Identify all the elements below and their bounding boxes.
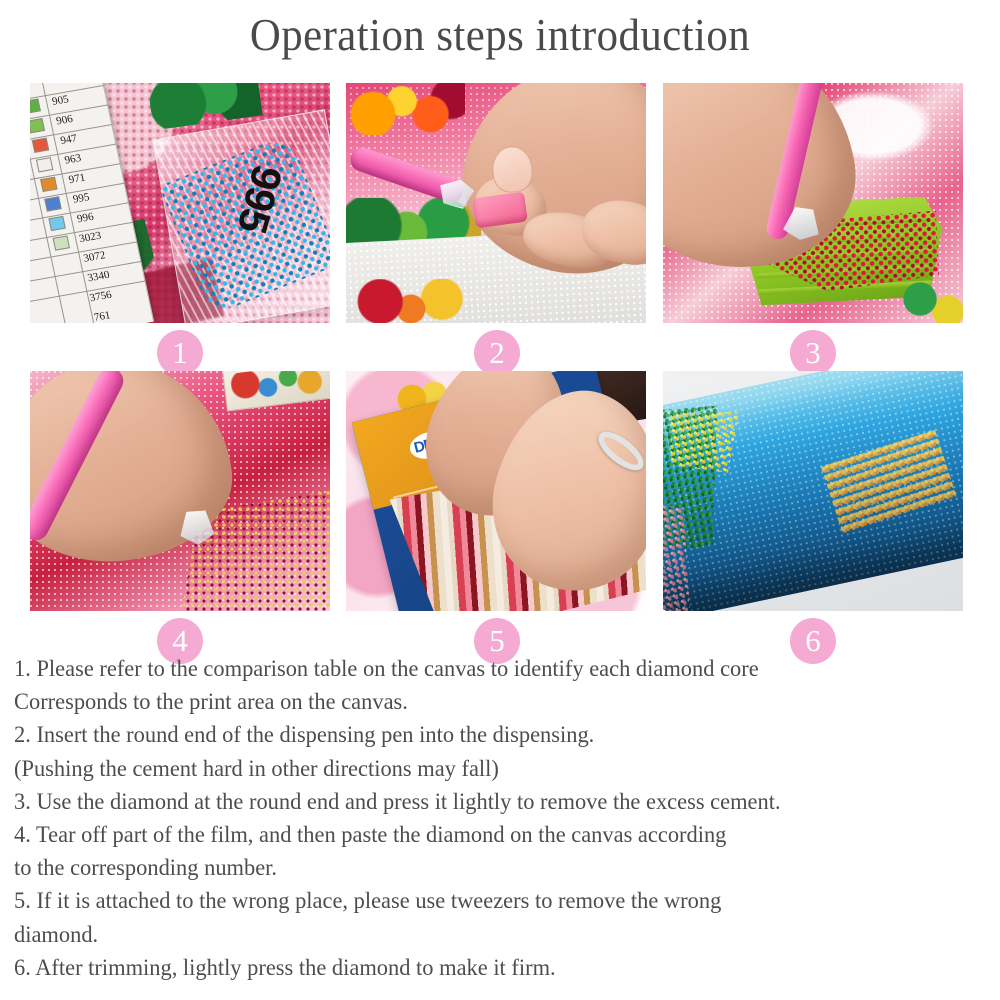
step-photo-6	[663, 371, 963, 611]
corner-beads	[899, 279, 963, 323]
step-badge-2: 2	[474, 330, 520, 376]
instruction-line: diamond.	[14, 919, 956, 952]
bottom-flower-beads	[356, 279, 466, 323]
instruction-line: Corresponds to the print area on the can…	[14, 686, 956, 719]
step-panel-2	[346, 83, 646, 323]
instruction-line: 6. After trimming, lightly press the dia…	[14, 952, 956, 985]
instruction-line: 3. Use the diamond at the round end and …	[14, 786, 956, 819]
steps-grid: [34] [35] [36] [37] [38] [39] # ◆	[30, 83, 963, 611]
orange-flower-beads	[350, 83, 465, 135]
step-panel-6	[663, 371, 963, 611]
instruction-line: 2. Insert the round end of the dispensin…	[14, 719, 956, 752]
steps-row-1: [34] [35] [36] [37] [38] [39] # ◆	[30, 83, 963, 323]
instruction-line: 4. Tear off part of the film, and then p…	[14, 819, 956, 852]
instruction-line: 5. If it is attached to the wrong place,…	[14, 885, 956, 918]
instruction-line: to the corresponding number.	[14, 852, 956, 885]
step-panel-3	[663, 83, 963, 323]
step-panel-5: DMC	[346, 371, 646, 611]
step-panel-1: [34] [35] [36] [37] [38] [39] # ◆	[30, 83, 330, 323]
instructions-list: 1. Please refer to the comparison table …	[14, 653, 956, 985]
step-photo-3	[663, 83, 963, 323]
steps-row-2: DMC	[30, 371, 963, 611]
step-badge-3: 3	[790, 330, 836, 376]
instruction-line: (Pushing the cement hard in other direct…	[14, 753, 956, 786]
step-panel-4	[30, 371, 330, 611]
step-photo-2	[346, 83, 646, 323]
operation-steps-page: Operation steps introduction	[0, 0, 1000, 1000]
step-photo-1: [34] [35] [36] [37] [38] [39] # ◆	[30, 83, 330, 323]
step-photo-5: DMC	[346, 371, 646, 611]
page-title: Operation steps introduction	[35, 6, 965, 64]
step-badge-1: 1	[157, 330, 203, 376]
instruction-line: 1. Please refer to the comparison table …	[14, 653, 956, 686]
step-photo-4	[30, 371, 330, 611]
